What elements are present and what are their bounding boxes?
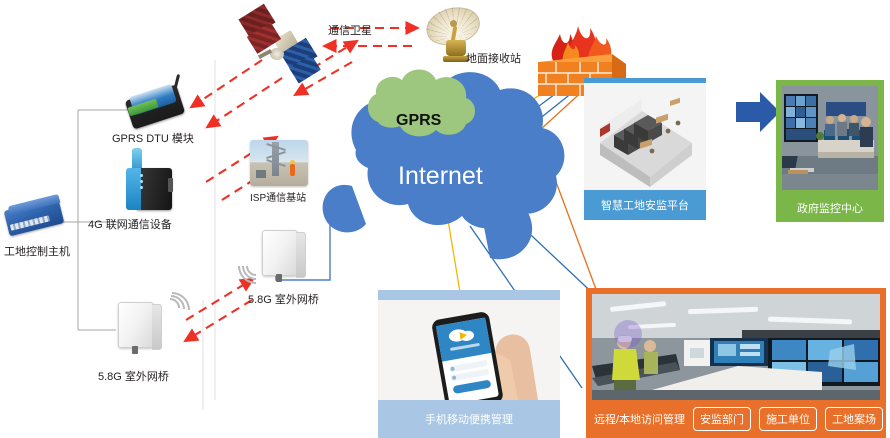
control-host-device [6, 196, 66, 236]
smart-site-platform-caption: 智慧工地安监平台 [584, 190, 706, 220]
gprs-cloud-label: GPRS [396, 112, 441, 130]
gov-monitor-center-panel[interactable]: 政府监控中心 [776, 80, 884, 222]
ground-station-label: 地面接收站 [466, 50, 521, 66]
isp-base-station-photo [250, 140, 308, 186]
datacenter-illustration [584, 83, 706, 190]
mobile-management-panel[interactable]: 手机移动便携管理 [378, 290, 560, 438]
gov-monitor-center-caption: 政府监控中心 [776, 194, 884, 222]
access-tag-construction-unit[interactable]: 施工单位 [759, 407, 817, 431]
lte-device-label: 4G 联网通信设备 [88, 216, 172, 232]
access-tag-safety-dept[interactable]: 安监部门 [693, 407, 751, 431]
mobile-app-photo [378, 300, 560, 400]
internet-cloud-label: Internet [398, 162, 483, 191]
access-tag-site-field[interactable]: 工地案场 [825, 407, 883, 431]
satellite-label: 通信卫星 [328, 22, 372, 38]
control-host-label: 工地控制主机 [4, 243, 70, 259]
isp-base-station-label: ISP通信基站 [250, 189, 306, 204]
bridge-lower-label: 5.8G 室外网桥 [98, 368, 169, 384]
access-tags-row: 远程/本地访问管理 安监部门 施工单位 工地案场 [586, 400, 886, 438]
gov-center-photo [782, 86, 878, 190]
control-room-photo [592, 294, 880, 400]
satellite-icon [240, 4, 326, 86]
lte-device [118, 160, 186, 212]
bridge-upper-label: 5.8G 室外网桥 [248, 291, 319, 307]
gprs-dtu-label: GPRS DTU 模块 [112, 130, 194, 146]
smart-site-platform-panel[interactable]: 智慧工地安监平台 [584, 78, 706, 220]
mobile-management-caption: 手机移动便携管理 [378, 400, 560, 438]
access-management-caption: 远程/本地访问管理 [594, 411, 685, 427]
network-topology-diagram: 工地控制主机 GPRS DTU 模块 4G 联网通信设备 5.8G 室外网桥 5… [0, 0, 890, 438]
access-management-panel[interactable]: 远程/本地访问管理 安监部门 施工单位 工地案场 [586, 288, 886, 438]
gprs-dtu-device [124, 82, 194, 126]
background-guides [203, 60, 215, 410]
